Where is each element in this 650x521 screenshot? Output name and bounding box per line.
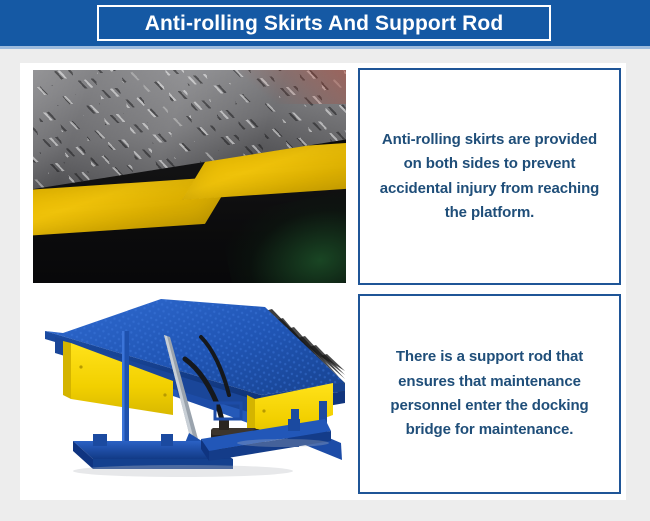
title-box: Anti-rolling Skirts And Support Rod bbox=[97, 5, 551, 41]
page-title: Anti-rolling Skirts And Support Rod bbox=[145, 13, 504, 34]
text-panel-anti-rolling-skirts: Anti-rolling skirts are provided on both… bbox=[358, 68, 621, 285]
content-card: Anti-rolling skirts are provided on both… bbox=[20, 63, 626, 500]
panel-text-anti-rolling-skirts: Anti-rolling skirts are provided on both… bbox=[360, 128, 619, 225]
text-panel-support-rod: There is a support rod that ensures that… bbox=[358, 294, 621, 494]
diamond-plate-edge-photo bbox=[33, 70, 346, 283]
panel-text-support-rod: There is a support rod that ensures that… bbox=[360, 345, 619, 442]
top-light-glare bbox=[226, 70, 346, 104]
dock-leveler-photo bbox=[33, 291, 348, 496]
dock-leveler-drawing bbox=[33, 291, 348, 496]
header-underline bbox=[0, 46, 650, 49]
product-feature-slide: Anti-rolling Skirts And Support Rod bbox=[0, 0, 650, 521]
